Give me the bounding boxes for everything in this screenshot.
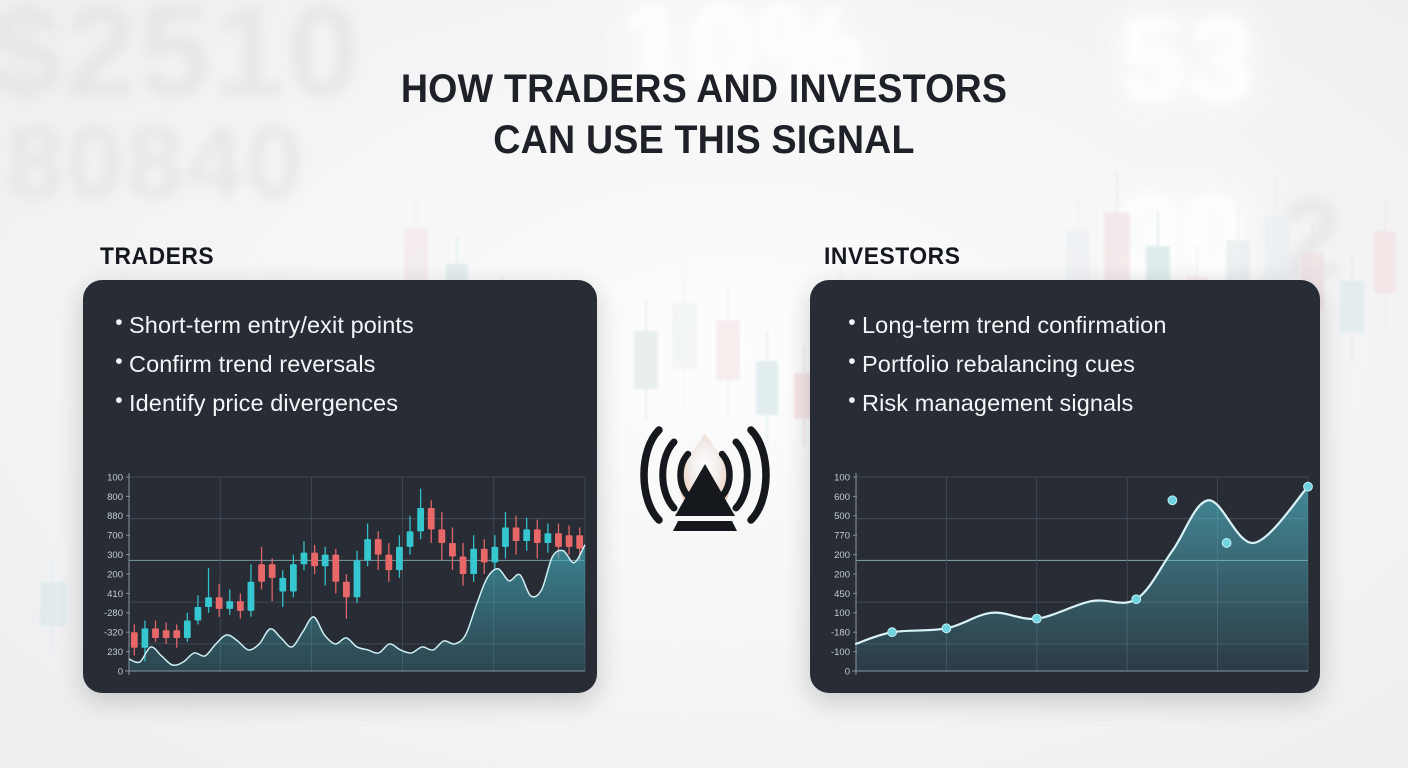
traders-candlestick-chart: 100800880700300200410-280-3202300 <box>83 461 597 693</box>
y-axis-tick-label: 450 <box>834 589 850 600</box>
candlestick <box>513 516 520 555</box>
bg-candle <box>716 286 740 414</box>
candlestick <box>396 535 403 578</box>
bullet-list-traders: • Short-term entry/exit points • Confirm… <box>83 306 597 423</box>
bullet-dot-icon: • <box>842 384 862 419</box>
bullet-dot-icon: • <box>109 306 129 341</box>
y-axis-tick-label: 410 <box>107 589 123 600</box>
candlestick <box>566 526 573 555</box>
candlestick <box>311 545 318 574</box>
candlestick <box>152 621 159 642</box>
list-item-label: Confirm trend reversals <box>129 345 376 384</box>
y-axis-tick-label: 600 <box>834 492 850 503</box>
bg-candle <box>634 300 658 420</box>
column-heading-investors: INVESTORS <box>824 243 960 271</box>
candlestick <box>205 568 212 613</box>
candlestick <box>481 539 488 574</box>
candlestick <box>544 524 551 553</box>
candlestick <box>258 547 265 590</box>
candlestick <box>449 527 456 570</box>
y-axis-tick-label: 100 <box>107 472 123 483</box>
bg-candle <box>672 266 698 406</box>
bullet-list-investors: • Long-term trend confirmation • Portfol… <box>810 306 1320 423</box>
y-axis-tick-label: 800 <box>107 492 123 503</box>
y-axis-tick-label: 300 <box>107 550 123 561</box>
candlestick <box>407 516 414 555</box>
candlestick <box>385 543 392 582</box>
data-point-marker <box>1168 496 1177 505</box>
bg-candle <box>1340 252 1364 362</box>
y-axis-tick-label: 200 <box>834 550 850 561</box>
y-axis-tick-label: -280 <box>104 608 123 619</box>
data-point-marker <box>1304 482 1313 491</box>
list-item: • Confirm trend reversals <box>109 345 571 384</box>
y-axis-tick-label: 100 <box>834 608 850 619</box>
candlestick <box>438 512 445 561</box>
list-item-label: Portfolio rebalancing cues <box>862 345 1135 384</box>
candlestick <box>375 531 382 570</box>
y-axis-tick-label: 0 <box>845 666 850 677</box>
bullet-dot-icon: • <box>842 306 862 341</box>
candlestick <box>428 500 435 543</box>
y-axis-tick-label: -320 <box>104 628 123 639</box>
bullet-dot-icon: • <box>109 345 129 380</box>
candlestick <box>216 584 223 617</box>
card-investors: • Long-term trend confirmation • Portfol… <box>810 280 1320 693</box>
column-heading-traders: TRADERS <box>100 243 214 271</box>
candlestick <box>269 558 276 601</box>
trend-area <box>856 487 1308 671</box>
y-axis-tick-label: 200 <box>107 569 123 580</box>
signal-broadcast-icon <box>612 408 798 540</box>
list-item: • Portfolio rebalancing cues <box>842 345 1294 384</box>
list-item: • Short-term entry/exit points <box>109 306 571 345</box>
list-item: • Long-term trend confirmation <box>842 306 1294 345</box>
y-axis-tick-label: 880 <box>107 511 123 522</box>
y-axis-tick-label: 500 <box>834 511 850 522</box>
candlestick <box>460 543 467 586</box>
data-point-marker <box>1132 595 1141 604</box>
data-point-marker <box>1032 614 1041 623</box>
area-svg: 100600500770200200450100-180-1000 <box>810 461 1320 693</box>
investors-area-chart: 100600500770200200450100-180-1000 <box>810 461 1320 693</box>
y-axis-tick-label: 0 <box>118 666 123 677</box>
candlestick <box>301 541 308 570</box>
candlestick <box>184 613 191 642</box>
candlestick <box>322 547 329 586</box>
y-axis-tick-label: -180 <box>831 628 850 639</box>
data-point-marker <box>1222 539 1231 548</box>
page-title-line-2: CAN USE THIS SIGNAL <box>42 115 1366 166</box>
candlestick <box>131 624 138 655</box>
candlestick <box>226 590 233 615</box>
data-point-marker <box>942 624 951 633</box>
list-item: • Risk management signals <box>842 384 1294 423</box>
candlestick <box>195 595 202 624</box>
page-title: HOW TRADERS AND INVESTORS CAN USE THIS S… <box>42 64 1366 166</box>
candlestick-svg: 100800880700300200410-280-3202300 <box>83 461 597 693</box>
bg-candle <box>1374 196 1396 328</box>
candlestick <box>343 574 350 619</box>
list-item: • Identify price divergences <box>109 384 571 423</box>
candlestick <box>523 518 530 551</box>
bg-candle <box>40 556 66 652</box>
y-axis-tick-label: 770 <box>834 531 850 542</box>
candlestick <box>237 593 244 618</box>
candlestick <box>534 520 541 559</box>
candlestick <box>163 623 170 644</box>
candlestick <box>364 524 371 567</box>
y-axis-tick-label: 200 <box>834 569 850 580</box>
candlestick <box>332 549 339 594</box>
y-axis-tick-label: -100 <box>831 647 850 658</box>
list-item-label: Risk management signals <box>862 384 1133 423</box>
y-axis-tick-label: 100 <box>834 472 850 483</box>
candlestick <box>417 489 424 539</box>
list-item-label: Identify price divergences <box>129 384 398 423</box>
bullet-dot-icon: • <box>842 345 862 380</box>
bullet-dot-icon: • <box>109 384 129 419</box>
candlestick <box>248 564 255 616</box>
y-axis-tick-label: 230 <box>107 647 123 658</box>
y-axis-tick-label: 700 <box>107 531 123 542</box>
card-traders: • Short-term entry/exit points • Confirm… <box>83 280 597 693</box>
candlestick <box>491 535 498 570</box>
candlestick <box>279 570 286 607</box>
page-title-line-1: HOW TRADERS AND INVESTORS <box>42 64 1366 115</box>
list-item-label: Long-term trend confirmation <box>862 306 1167 345</box>
data-point-marker <box>888 628 897 637</box>
candlestick <box>290 555 297 598</box>
list-item-label: Short-term entry/exit points <box>129 306 414 345</box>
candlestick <box>354 551 361 603</box>
candlestick <box>470 535 477 582</box>
